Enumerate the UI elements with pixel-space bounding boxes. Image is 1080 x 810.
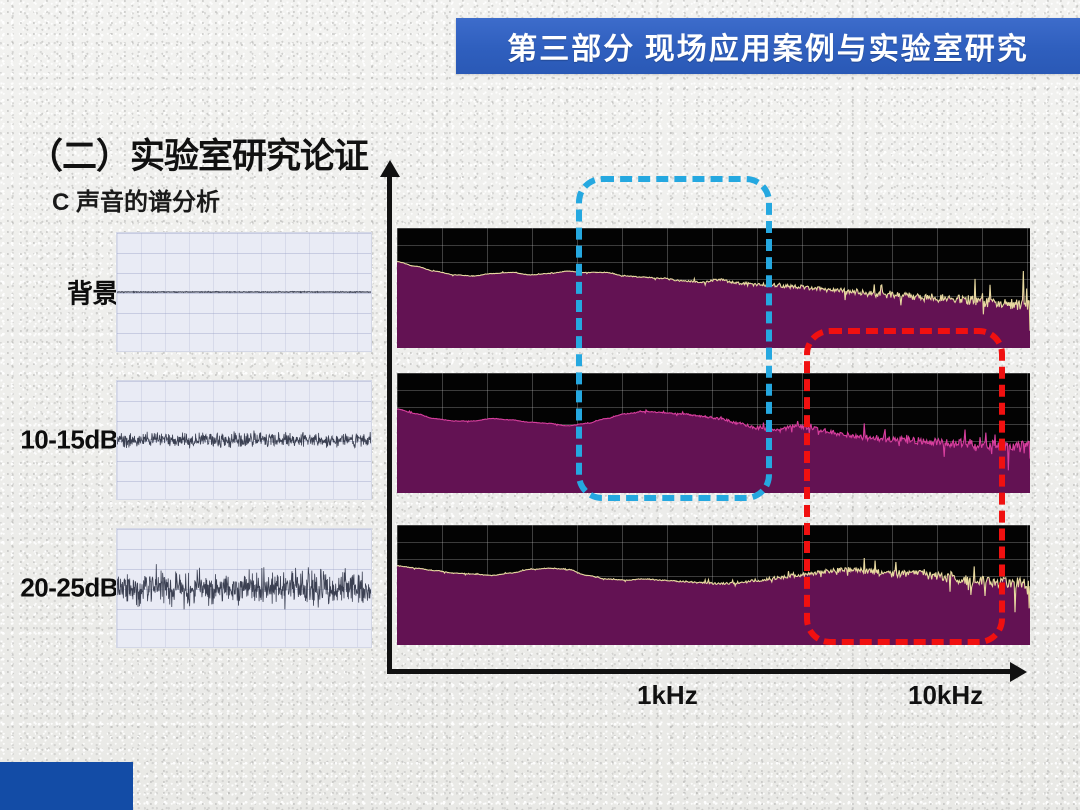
waveform-panel-10-15db [116, 380, 372, 500]
section-banner-title: 第三部分 现场应用案例与实验室研究 [507, 24, 1029, 68]
waveform-row-background: 背景 [0, 232, 392, 352]
waveform-label-20-25db: 20-25dB [0, 573, 118, 604]
waveform-trace-10-15db [117, 381, 371, 499]
x-axis-line [387, 669, 1017, 674]
waveform-label-background: 背景 [0, 274, 118, 311]
cyan-highlight-box [576, 176, 772, 501]
waveform-panel-background [116, 232, 372, 352]
slide-root: 第三部分 现场应用案例与实验室研究 （二）实验室研究论证 C 声音的谱分析 背景… [0, 0, 1080, 810]
x-axis-tick-10khz: 10kHz [908, 680, 983, 711]
x-axis-arrow-icon [1010, 662, 1027, 682]
corner-decoration-block [0, 762, 133, 810]
waveform-row-10-15db: 10-15dB [0, 380, 392, 500]
section-banner: 第三部分 现场应用案例与实验室研究 [456, 18, 1080, 74]
red-highlight-box [804, 328, 1005, 645]
waveform-trace-20-25db [117, 529, 371, 647]
page-title: （二）实验室研究论证 [28, 128, 368, 179]
waveform-row-20-25db: 20-25dB [0, 528, 392, 648]
waveform-label-10-15db: 10-15dB [0, 425, 118, 456]
waveform-panel-20-25db [116, 528, 372, 648]
y-axis-arrow-icon [380, 160, 400, 177]
waveform-trace-background [117, 233, 371, 351]
spectrum-chart: 1kHz 10kHz [380, 160, 1040, 690]
y-axis-line [387, 174, 392, 674]
page-subtitle: C 声音的谱分析 [52, 182, 220, 217]
x-axis-tick-1khz: 1kHz [637, 680, 698, 711]
